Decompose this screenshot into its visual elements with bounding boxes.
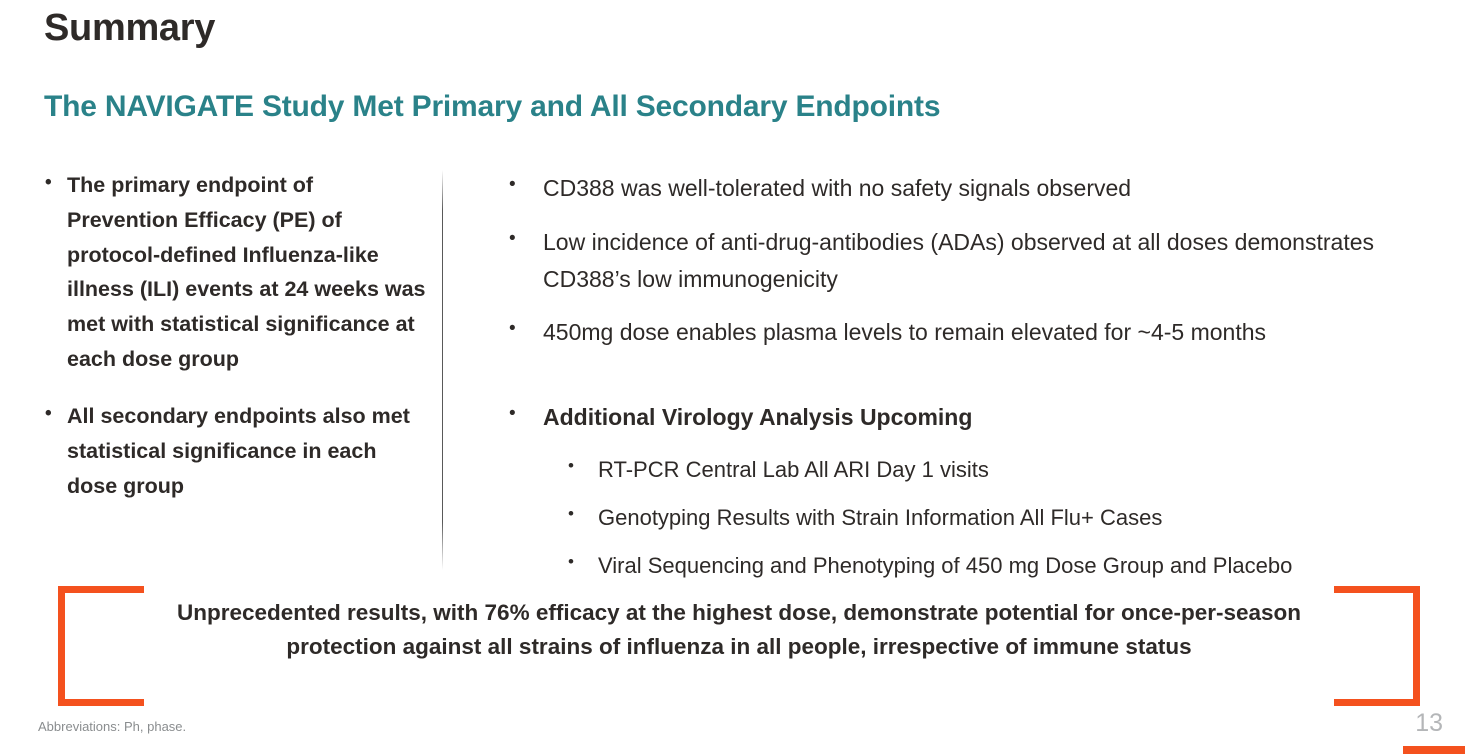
bullet-icon: • (509, 314, 516, 344)
list-item: • 450mg dose enables plasma levels to re… (498, 314, 1458, 351)
page-number: 13 (1415, 709, 1443, 738)
list-item: • All secondary endpoints also met stati… (40, 399, 430, 503)
left-column: • The primary endpoint of Prevention Eff… (40, 168, 430, 525)
bracket-left-top-bar (58, 586, 144, 593)
list-item-text: Genotyping Results with Strain Informati… (598, 501, 1458, 535)
page-subtitle: The NAVIGATE Study Met Primary and All S… (44, 90, 940, 125)
list-item-text: Low incidence of anti-drug-antibodies (A… (543, 224, 1458, 298)
corner-accent-bar (1403, 746, 1465, 754)
footer-abbreviations: Abbreviations: Ph, phase. (38, 719, 186, 734)
list-item-text: 450mg dose enables plasma levels to rema… (543, 314, 1458, 351)
list-item-text: All secondary endpoints also met statist… (67, 399, 430, 503)
list-item-text: Viral Sequencing and Phenotyping of 450 … (598, 549, 1458, 583)
bracket-right-vertical-bar (1413, 586, 1420, 706)
page-title: Summary (44, 8, 215, 50)
bullet-icon: • (509, 170, 516, 200)
bracket-right-bottom-bar (1334, 699, 1420, 706)
bullet-icon: • (45, 399, 52, 430)
list-item: • Viral Sequencing and Phenotyping of 45… (498, 549, 1458, 583)
list-item: • Genotyping Results with Strain Informa… (498, 501, 1458, 535)
bracket-left-bottom-bar (58, 699, 144, 706)
virology-sub-list: • RT-PCR Central Lab All ARI Day 1 visit… (498, 453, 1458, 583)
virology-heading-item: • Additional Virology Analysis Upcoming (498, 399, 1458, 436)
column-divider (442, 170, 443, 570)
right-column: • CD388 was well-tolerated with no safet… (498, 170, 1458, 597)
bullet-icon: • (568, 501, 574, 527)
list-item: • RT-PCR Central Lab All ARI Day 1 visit… (498, 453, 1458, 487)
bracket-right-icon (1334, 586, 1420, 706)
list-item-text: RT-PCR Central Lab All ARI Day 1 visits (598, 453, 1458, 487)
virology-heading-text: Additional Virology Analysis Upcoming (543, 399, 1458, 436)
callout-box: Unprecedented results, with 76% efficacy… (58, 586, 1420, 706)
bullet-icon: • (568, 453, 574, 479)
list-item-text: CD388 was well-tolerated with no safety … (543, 170, 1458, 207)
list-item: • Low incidence of anti-drug-antibodies … (498, 224, 1458, 298)
bracket-left-vertical-bar (58, 586, 65, 706)
bullet-icon: • (45, 168, 52, 199)
list-item: • CD388 was well-tolerated with no safet… (498, 170, 1458, 207)
slide-root: Summary The NAVIGATE Study Met Primary a… (0, 0, 1465, 754)
bullet-icon: • (509, 224, 516, 254)
bullet-icon: • (509, 399, 516, 429)
callout-text: Unprecedented results, with 76% efficacy… (150, 596, 1328, 664)
bracket-left-icon (58, 586, 144, 706)
list-item: • The primary endpoint of Prevention Eff… (40, 168, 430, 377)
bullet-icon: • (568, 549, 574, 575)
list-item-text: The primary endpoint of Prevention Effic… (67, 168, 430, 377)
bracket-right-top-bar (1334, 586, 1420, 593)
